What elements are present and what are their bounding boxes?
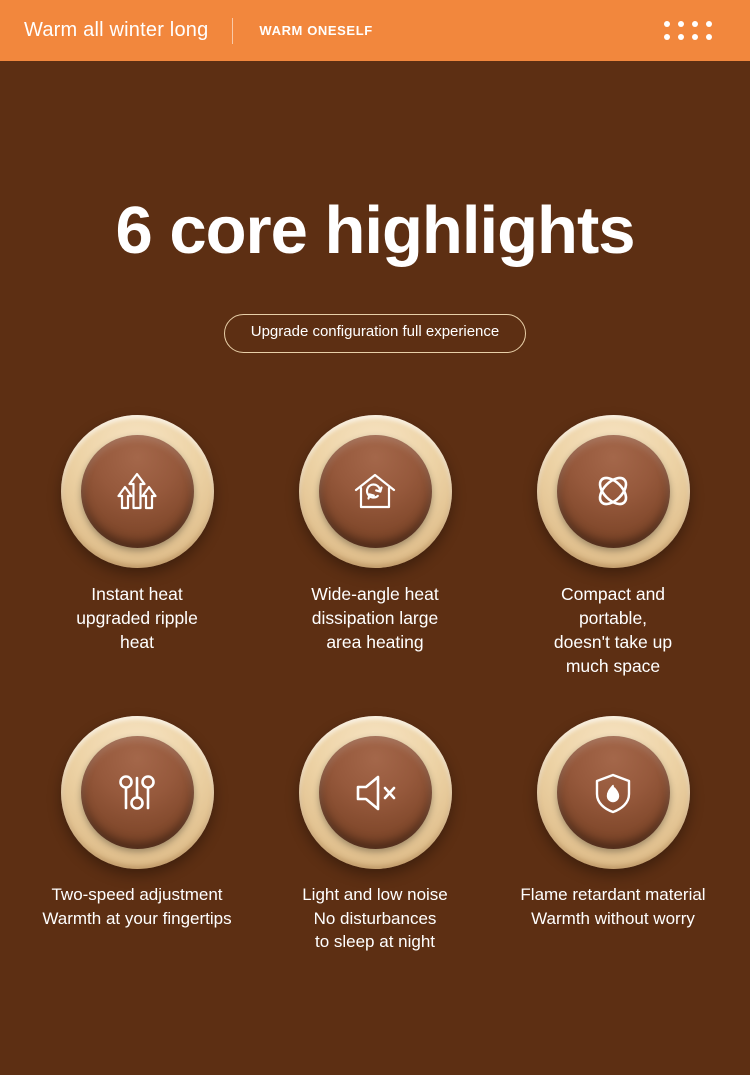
dot	[678, 34, 684, 40]
feature-button[interactable]	[299, 716, 452, 869]
subtitle-pill-wrapper: Upgrade configuration full experience	[0, 314, 750, 353]
feature-grid-row-1: Instant heat upgraded ripple heat Wide-a…	[0, 415, 750, 679]
dot	[706, 21, 712, 27]
top-header-bar: Warm all winter long WARM ONESELF	[0, 0, 750, 61]
feature-button[interactable]	[537, 415, 690, 568]
feature-button-face	[81, 736, 194, 849]
dot	[692, 34, 698, 40]
feature-caption: Instant heat upgraded ripple heat	[76, 582, 198, 654]
header-subtitle: WARM ONESELF	[259, 23, 372, 38]
feature-item[interactable]: Two-speed adjustment Warmth at your fing…	[18, 716, 256, 953]
feature-button-face	[557, 435, 670, 548]
feature-item[interactable]: Light and low noise No disturbances to s…	[256, 716, 494, 953]
feature-button-face	[557, 736, 670, 849]
feature-caption: Wide-angle heat dissipation large area h…	[311, 582, 438, 654]
dot	[664, 34, 670, 40]
feature-item[interactable]: Instant heat upgraded ripple heat	[18, 415, 256, 679]
sliders-icon	[109, 765, 165, 821]
feature-button-face	[319, 736, 432, 849]
dot	[706, 34, 712, 40]
dot	[692, 21, 698, 27]
feature-button[interactable]	[61, 716, 214, 869]
compact-atom-icon	[585, 463, 641, 519]
feature-button-face	[319, 435, 432, 548]
feature-caption: Two-speed adjustment Warmth at your fing…	[42, 883, 231, 930]
dot	[664, 21, 670, 27]
feature-caption: Flame retardant material Warmth without …	[520, 883, 705, 930]
feature-button[interactable]	[537, 716, 690, 869]
feature-item[interactable]: Compact and portable, doesn't take up mu…	[494, 415, 732, 679]
subtitle-pill: Upgrade configuration full experience	[224, 314, 527, 353]
hero-section: 6 core highlights Upgrade configuration …	[0, 197, 750, 353]
feature-button[interactable]	[299, 415, 452, 568]
feature-caption: Light and low noise No disturbances to s…	[302, 883, 448, 953]
dot	[678, 21, 684, 27]
feature-caption: Compact and portable, doesn't take up mu…	[554, 582, 672, 679]
house-circulation-icon	[347, 463, 403, 519]
header-divider	[232, 18, 233, 44]
speaker-mute-icon	[347, 765, 403, 821]
header-title: Warm all winter long	[24, 19, 208, 42]
feature-button-face	[81, 435, 194, 548]
feature-button[interactable]	[61, 415, 214, 568]
feature-grid-row-2: Two-speed adjustment Warmth at your fing…	[0, 716, 750, 953]
grid-dots-icon[interactable]	[664, 21, 712, 40]
rising-arrows-icon	[109, 463, 165, 519]
page-title: 6 core highlights	[0, 197, 750, 264]
feature-item[interactable]: Flame retardant material Warmth without …	[494, 716, 732, 953]
feature-item[interactable]: Wide-angle heat dissipation large area h…	[256, 415, 494, 679]
shield-flame-icon	[585, 765, 641, 821]
